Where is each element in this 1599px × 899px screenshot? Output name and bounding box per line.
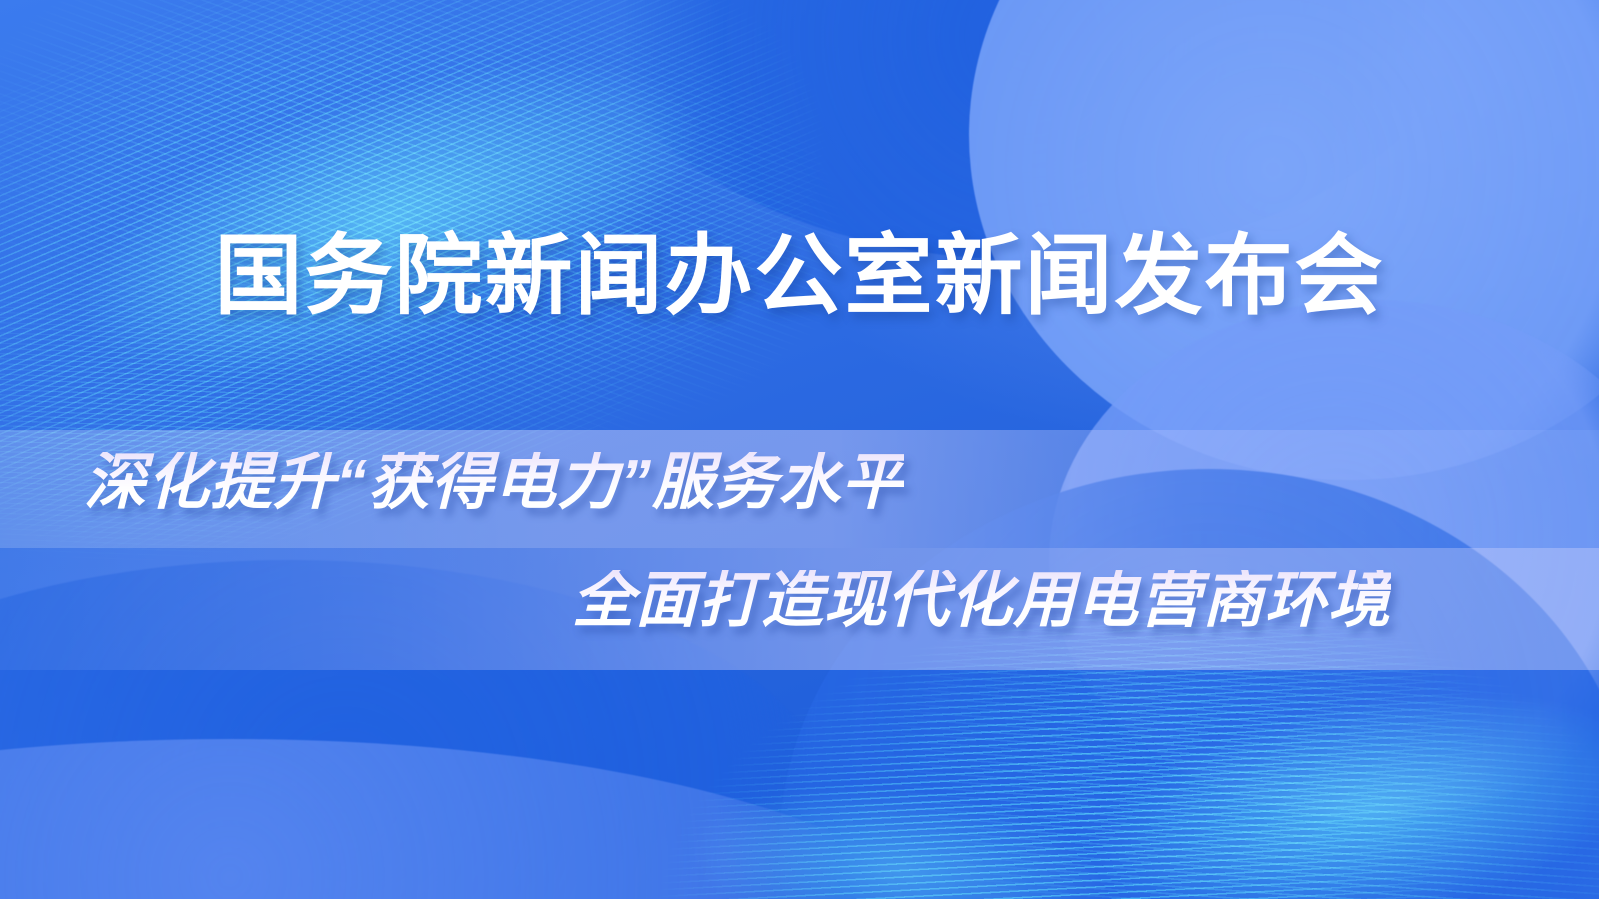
press-conference-poster: 国务院新闻办公室新闻发布会 深化提升“获得电力”服务水平 全面打造现代化用电营商… <box>0 0 1599 899</box>
wave-crest-bottom-icon <box>610 731 1190 899</box>
blob-bottom-left-sweep-icon <box>0 739 980 899</box>
subtitle-line-1: 深化提升“获得电力”服务水平 <box>84 452 904 514</box>
blob-dark-upper-right-icon <box>579 0 1479 260</box>
subtitle-line-2: 全面打造现代化用电营商环境 <box>572 570 1391 632</box>
page-title: 国务院新闻办公室新闻发布会 <box>0 232 1599 320</box>
